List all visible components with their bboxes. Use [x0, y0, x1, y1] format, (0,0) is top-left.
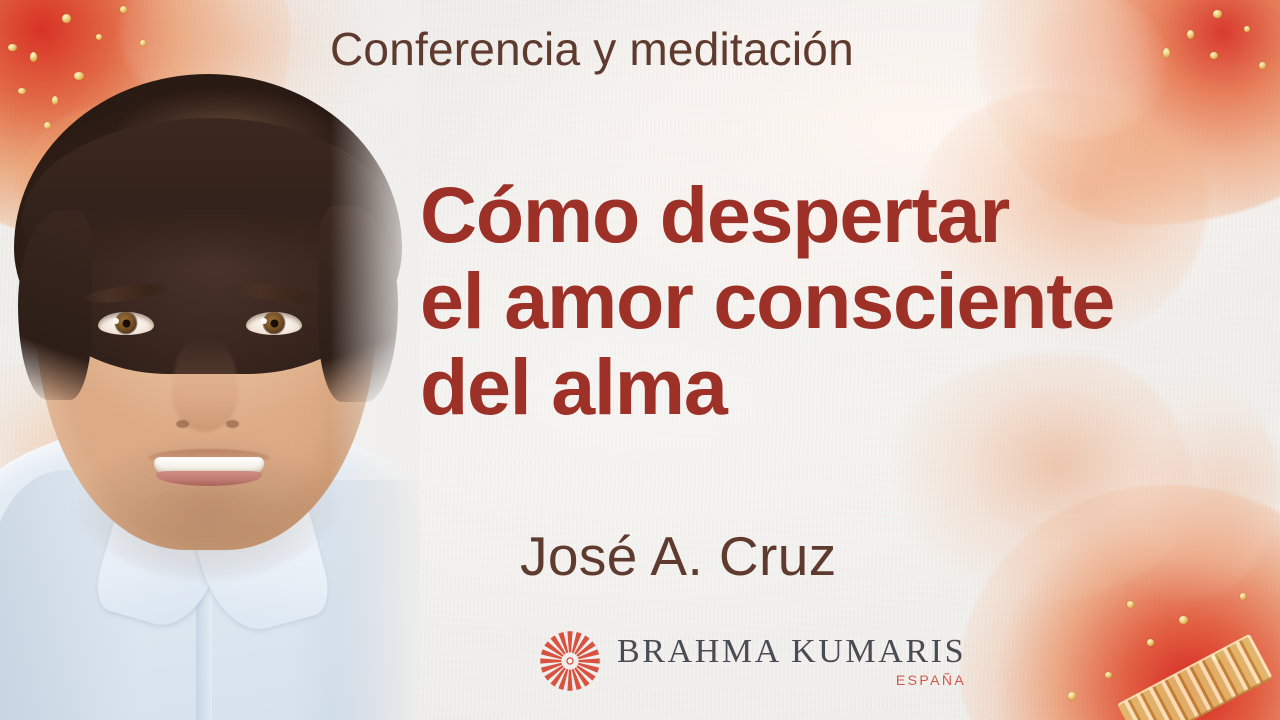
- gold-speckle-icon: [1259, 62, 1266, 69]
- gold-speckle-icon: [1240, 593, 1246, 600]
- gold-speckle-icon: [1213, 10, 1222, 18]
- iris-right: [264, 313, 285, 334]
- eye-glint-left: [113, 318, 119, 324]
- title-line-1: Cómo despertar: [420, 172, 1250, 258]
- gold-speckle-icon: [1147, 639, 1154, 646]
- eye-left: [98, 312, 154, 335]
- gold-speckle-icon: [1068, 692, 1076, 700]
- iris-left: [116, 313, 137, 334]
- gold-speckle-icon: [1163, 48, 1170, 58]
- speaker-portrait-photo: [0, 0, 420, 720]
- gold-speckle-icon: [1187, 30, 1194, 39]
- gold-speckle-icon: [1179, 616, 1188, 624]
- pupil-left: [122, 319, 130, 327]
- nostril-right: [226, 420, 239, 428]
- eye-glint-right: [261, 318, 267, 324]
- chin-shading: [128, 488, 288, 550]
- gold-speckle-icon: [1105, 672, 1112, 678]
- nostril-left: [176, 420, 189, 428]
- logo-country-text: ESPAÑA: [896, 672, 966, 688]
- logo-name-text: BRAHMA KUMARIS: [617, 634, 966, 670]
- sunburst-icon: [537, 628, 603, 694]
- gold-speckle-icon: [1210, 52, 1218, 59]
- speaker-name: José A. Cruz: [520, 524, 837, 588]
- portrait-edge-fade: [330, 0, 420, 720]
- page-title: Cómo despertar el amor consciente del al…: [420, 172, 1250, 430]
- eye-right: [246, 312, 302, 335]
- event-type-label: Conferencia y meditación: [330, 22, 854, 76]
- brahma-kumaris-logo: BRAHMA KUMARIS ESPAÑA: [537, 628, 966, 694]
- mouth: [148, 452, 270, 486]
- gold-speckle-icon: [1244, 26, 1250, 32]
- lower-lip: [156, 471, 262, 486]
- title-line-2: el amor consciente: [420, 258, 1250, 344]
- nose: [172, 336, 238, 432]
- logo-wordmark: BRAHMA KUMARIS ESPAÑA: [617, 634, 966, 688]
- pupil-right: [270, 319, 278, 327]
- poster-canvas: Conferencia y meditación Cómo despertar …: [0, 0, 1280, 720]
- gold-speckle-icon: [1127, 601, 1134, 608]
- title-line-3: del alma: [420, 344, 1250, 430]
